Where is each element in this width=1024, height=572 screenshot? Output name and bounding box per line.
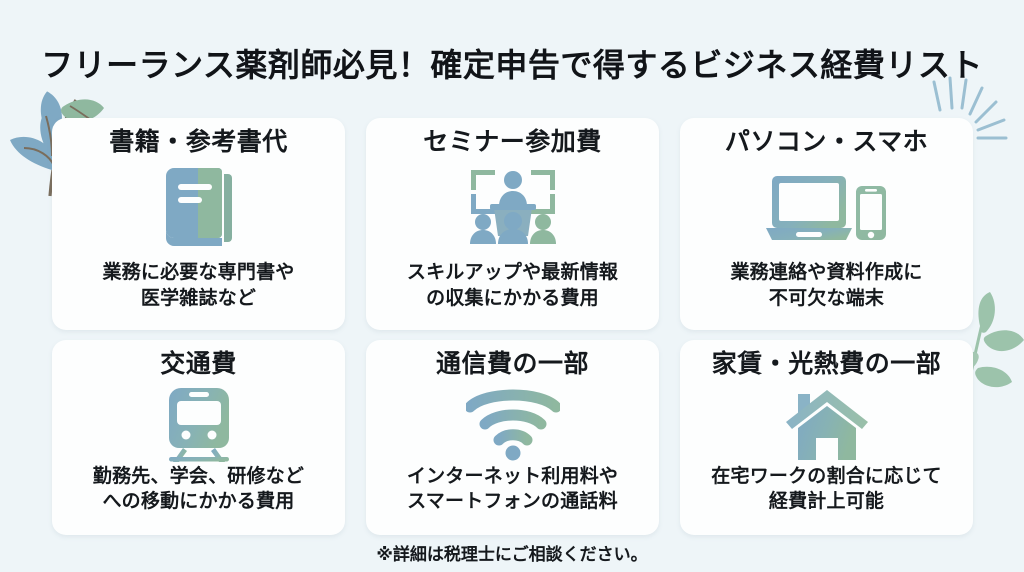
card-description-line1: スキルアップや最新情報: [407, 262, 618, 283]
house-icon: [784, 386, 870, 464]
infographic-canvas: フリーランス薬剤師必見！確定申告で得するビジネス経費リスト 書籍・参考書代 業務…: [0, 0, 1024, 572]
card-description-line1: 業務に必要な専門書や: [102, 262, 294, 283]
card-title: 通信費の一部: [436, 350, 589, 380]
card-description-line1: 在宅ワークの割合に応じて: [711, 466, 941, 487]
laptop-phone-icon: [764, 164, 890, 250]
card-description-line1: インターネット利用料や: [407, 466, 618, 487]
expense-card-communication[interactable]: 通信費の一部 インターネット利用料や スマート: [366, 340, 659, 535]
wifi-icon: [466, 386, 560, 464]
expense-card-seminar[interactable]: セミナー参加費: [366, 118, 659, 330]
card-description: 業務に必要な専門書や 医学雑誌など: [102, 260, 294, 322]
card-title: 家賃・光熱費の一部: [712, 350, 942, 380]
card-description-line2: 経費計上可能: [769, 491, 884, 512]
expense-card-home[interactable]: 家賃・光熱費の一部: [680, 340, 973, 535]
card-description: スキルアップや最新情報 の収集にかかる費用: [407, 260, 618, 322]
page-title: フリーランス薬剤師必見！確定申告で得するビジネス経費リスト: [0, 40, 1024, 86]
card-title: 交通費: [160, 350, 237, 380]
footer-note: ※詳細は税理士にご相談ください。: [0, 540, 1024, 565]
card-title: セミナー参加費: [423, 128, 602, 158]
train-icon: [163, 386, 235, 464]
presentation-icon: [463, 164, 563, 250]
card-description-line2: の収集にかかる費用: [426, 288, 599, 309]
card-description-line2: 医学雑誌など: [141, 288, 256, 309]
card-title: 書籍・参考書代: [109, 128, 288, 158]
card-description: インターネット利用料や スマートフォンの通話料: [407, 464, 618, 528]
expense-card-transport[interactable]: 交通費: [52, 340, 345, 535]
card-description-line2: スマートフォンの通話料: [407, 491, 618, 512]
expense-card-devices[interactable]: パソコン・スマホ: [680, 118, 973, 330]
card-description-line1: 勤務先、学会、研修など: [93, 466, 304, 487]
card-description: 勤務先、学会、研修など への移動にかかる費用: [93, 464, 304, 528]
book-icon: [162, 164, 236, 250]
expense-card-grid: 書籍・参考書代 業務に必要な専門書や 医学雑誌など セミナー参加費: [52, 118, 972, 535]
card-description: 在宅ワークの割合に応じて 経費計上可能: [711, 464, 941, 528]
card-title: パソコン・スマホ: [725, 128, 928, 158]
card-description-line2: への移動にかかる費用: [102, 491, 294, 512]
card-description-line1: 業務連絡や資料作成に: [730, 262, 922, 283]
card-description-line2: 不可欠な端末: [769, 288, 884, 309]
card-description: 業務連絡や資料作成に 不可欠な端末: [730, 260, 922, 322]
expense-card-books[interactable]: 書籍・参考書代 業務に必要な専門書や 医学雑誌など: [52, 118, 345, 330]
